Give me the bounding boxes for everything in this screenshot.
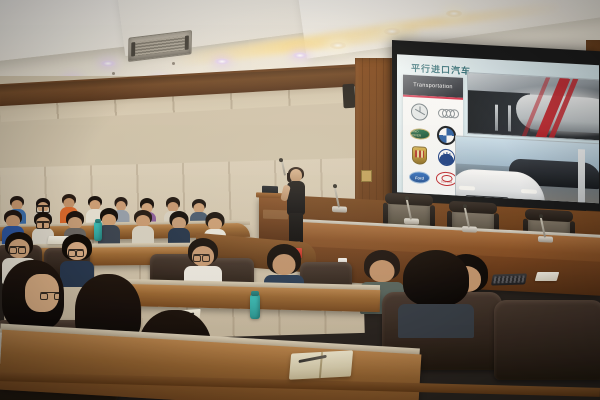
sprinkler-head — [172, 62, 175, 65]
open-notebook — [289, 350, 353, 379]
mic-head — [333, 184, 337, 188]
eyeglasses — [9, 246, 26, 252]
toyota-logo-text: TOYOTA — [441, 180, 452, 185]
eyeglasses — [68, 249, 84, 255]
mic-head — [279, 158, 283, 162]
audience-member — [132, 212, 154, 244]
downlight — [446, 10, 462, 17]
photo-pillar — [578, 149, 585, 203]
keyboard — [491, 273, 527, 285]
bmw-logo — [437, 125, 456, 145]
wall-speaker — [342, 84, 355, 109]
eyeglasses — [193, 254, 210, 260]
mic-head — [539, 214, 543, 218]
bottle-cap — [251, 291, 259, 296]
eyeglasses — [36, 205, 50, 211]
mercedes-benz-logo — [411, 103, 428, 121]
eyeglasses — [36, 221, 50, 227]
downlight — [330, 42, 346, 49]
ford-logo-text: Ford — [415, 175, 424, 180]
downlight — [292, 52, 308, 59]
vent-slot-right — [185, 35, 189, 50]
downlight — [100, 60, 116, 67]
downlight — [384, 28, 400, 35]
sports-car-photo — [467, 72, 599, 141]
ford-logo: Ford — [409, 171, 430, 184]
land-rover-logo-text: LAND ROVER — [411, 129, 429, 138]
audience-member-foreground — [398, 252, 474, 326]
head-hair — [403, 250, 469, 306]
land-rover-logo: LAND ROVER — [410, 127, 430, 139]
teal-water-bottle — [250, 295, 260, 319]
chair-arm — [430, 205, 435, 227]
head — [273, 254, 296, 275]
maserati-logo — [438, 148, 455, 166]
head — [370, 260, 395, 282]
wall-control-plate — [361, 170, 372, 182]
photo-stanchion — [495, 105, 498, 131]
porsche-logo — [412, 146, 427, 165]
chair-arm — [383, 203, 388, 225]
teal-water-bottle — [94, 222, 102, 241]
keyboard-keys — [493, 275, 524, 283]
projection-screen: 平行进口汽车 Transportation LAND ROVER — [392, 40, 600, 211]
vent-grille — [135, 36, 185, 56]
toyota-logo: TOYOTA — [436, 172, 457, 187]
lecture-hall-photo: 平行进口汽车 Transportation LAND ROVER — [0, 0, 600, 400]
audi-logo — [438, 108, 455, 117]
mic-head — [405, 196, 409, 200]
slide-brand-card: Transportation LAND ROVER — [403, 75, 463, 196]
brand-logo-grid: LAND ROVER Ford TOYOTA — [406, 100, 460, 194]
photo-stanchion — [508, 105, 511, 131]
showroom-photo — [455, 135, 599, 203]
sprinkler-head — [112, 72, 115, 75]
downlight — [214, 58, 230, 65]
torso — [398, 304, 474, 338]
foreground-chair — [494, 300, 600, 380]
projected-slide: 平行进口汽车 Transportation LAND ROVER — [397, 54, 599, 203]
bottle-cap — [95, 219, 101, 223]
presenter — [284, 169, 308, 245]
mic-head — [463, 204, 467, 208]
papers — [535, 272, 560, 281]
vent-slot-left — [131, 42, 135, 57]
eyeglasses — [40, 292, 62, 301]
